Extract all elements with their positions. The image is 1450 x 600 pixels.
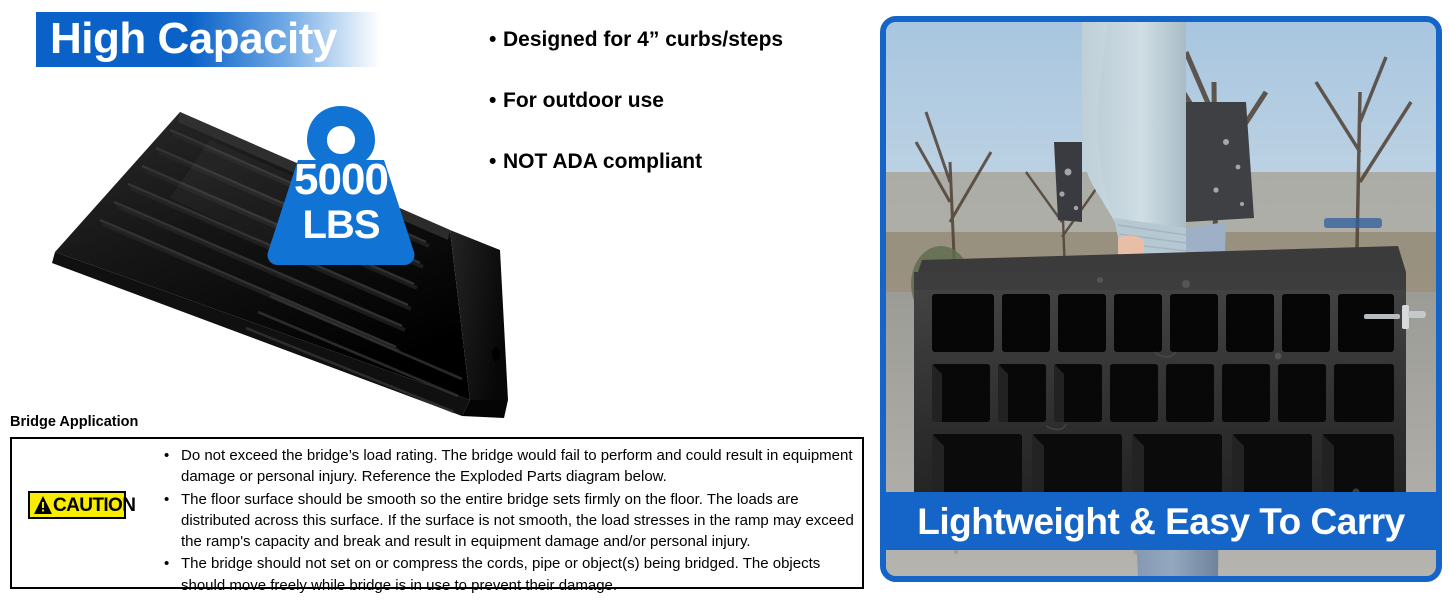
caution-label: CAUTION xyxy=(53,496,135,515)
caution-badge: CAUTION xyxy=(28,491,126,519)
photo-caption-bar: Lightweight & Easy To Carry xyxy=(886,492,1436,550)
caution-item-list: Do not exceed the bridge’s load rating. … xyxy=(164,445,858,597)
weight-capacity-badge: 5000 LBS xyxy=(258,100,424,270)
weight-icon xyxy=(258,100,424,270)
warning-triangle-icon xyxy=(33,495,53,515)
caution-box: CAUTION Do not exceed the bridge’s load … xyxy=(10,437,864,589)
feature-label: Designed for 4” curbs/steps xyxy=(503,28,783,51)
bridge-application-title: Bridge Application xyxy=(10,415,138,430)
feature-item: •Designed for 4” curbs/steps xyxy=(489,28,869,51)
photo-caption-text: Lightweight & Easy To Carry xyxy=(917,503,1404,540)
caution-item: Do not exceed the bridge’s load rating. … xyxy=(164,445,858,488)
caution-item: The bridge should not set on or compress… xyxy=(164,553,858,596)
bullet-icon: • xyxy=(489,28,503,51)
high-capacity-title: High Capacity xyxy=(50,17,337,61)
caution-item: The floor surface should be smooth so th… xyxy=(164,489,858,553)
high-capacity-banner: High Capacity xyxy=(36,12,380,67)
product-photo-panel: Lightweight & Easy To Carry xyxy=(880,16,1442,582)
